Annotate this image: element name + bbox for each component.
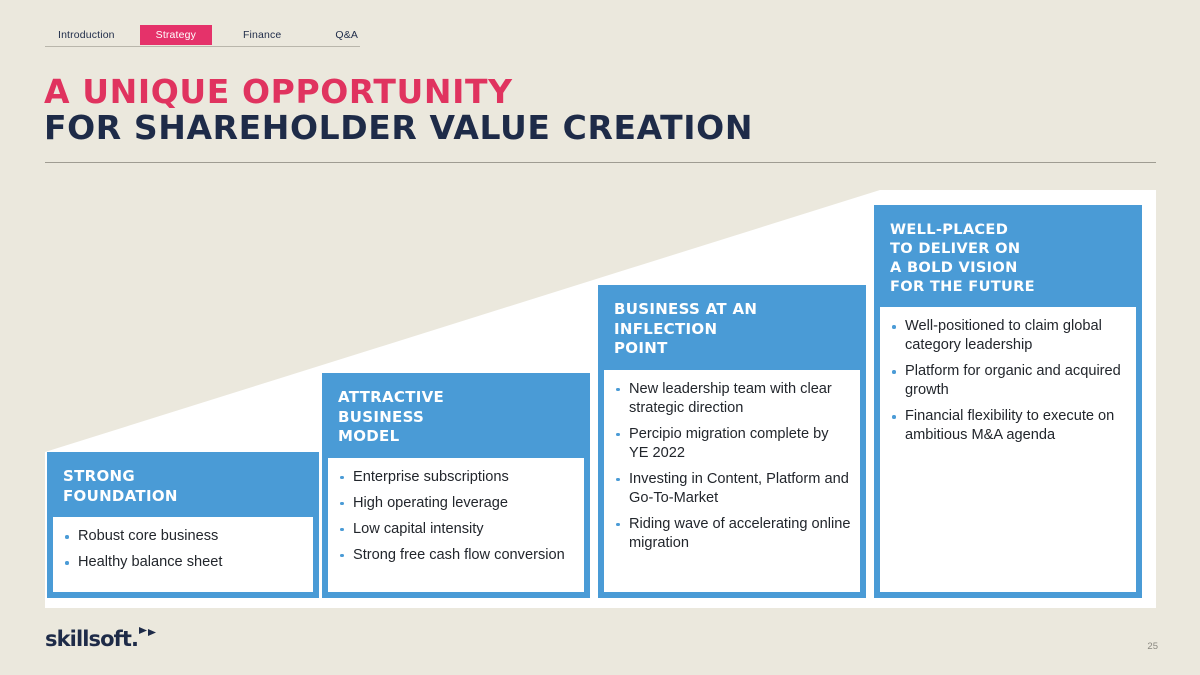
pillar-card-body: Enterprise subscriptions High operating … bbox=[328, 458, 584, 593]
nav-underline bbox=[45, 46, 360, 47]
pillar-card-header: STRONG FOUNDATION bbox=[53, 458, 313, 517]
list-item: Investing in Content, Platform and Go-To… bbox=[613, 470, 851, 508]
pillar-card-body: New leadership team with clear strategic… bbox=[604, 370, 860, 593]
nav-tab-introduction[interactable]: Introduction bbox=[49, 25, 124, 45]
pillar-card-attractive-business-model: ATTRACTIVE BUSINESS MODEL Enterprise sub… bbox=[322, 373, 590, 598]
pillar-bullet-list: New leadership team with clear strategic… bbox=[613, 380, 851, 553]
pillar-bullet-list: Well-positioned to claim global category… bbox=[889, 317, 1127, 445]
list-item: Robust core business bbox=[62, 527, 304, 546]
list-item: Enterprise subscriptions bbox=[337, 468, 575, 487]
nav-tab-qa[interactable]: Q&A bbox=[326, 25, 367, 45]
skillsoft-logo: skillsoft. bbox=[45, 629, 157, 650]
list-item: Platform for organic and acquired growth bbox=[889, 362, 1127, 400]
pillar-card-well-placed-to-deliver: WELL-PLACED TO DELIVER ON A BOLD VISION … bbox=[874, 205, 1142, 598]
pillar-card-body: Robust core business Healthy balance she… bbox=[53, 517, 313, 592]
pillar-card-header: BUSINESS AT AN INFLECTION POINT bbox=[604, 291, 860, 370]
list-item: High operating leverage bbox=[337, 494, 575, 513]
pillar-card-header: ATTRACTIVE BUSINESS MODEL bbox=[328, 379, 584, 458]
page-title: A UNIQUE OPPORTUNITY FOR SHAREHOLDER VAL… bbox=[44, 76, 1164, 144]
list-item: Riding wave of accelerating online migra… bbox=[613, 515, 851, 553]
pillar-bullet-list: Robust core business Healthy balance she… bbox=[62, 527, 304, 572]
pillar-card-business-at-an-inflection-point: BUSINESS AT AN INFLECTION POINT New lead… bbox=[598, 285, 866, 598]
list-item: Healthy balance sheet bbox=[62, 553, 304, 572]
nav-tab-finance[interactable]: Finance bbox=[234, 25, 290, 45]
section-nav: Introduction Strategy Finance Q&A bbox=[45, 25, 360, 47]
logo-wordmark: skillsoft. bbox=[45, 629, 138, 650]
list-item: Financial flexibility to execute on ambi… bbox=[889, 407, 1127, 445]
slide: Introduction Strategy Finance Q&A A UNIQ… bbox=[0, 0, 1200, 675]
pillar-bullet-list: Enterprise subscriptions High operating … bbox=[337, 468, 575, 565]
page-title-line-2: FOR SHAREHOLDER VALUE CREATION bbox=[44, 112, 1164, 144]
list-item: Percipio migration complete by YE 2022 bbox=[613, 425, 851, 463]
list-item: Well-positioned to claim global category… bbox=[889, 317, 1127, 355]
list-item: Strong free cash flow conversion bbox=[337, 546, 575, 565]
play-triangles-icon bbox=[139, 627, 157, 642]
title-divider bbox=[45, 162, 1156, 163]
pillar-card-body: Well-positioned to claim global category… bbox=[880, 307, 1136, 592]
page-title-line-1: A UNIQUE OPPORTUNITY bbox=[44, 76, 1164, 108]
nav-tab-strategy[interactable]: Strategy bbox=[140, 25, 212, 45]
list-item: New leadership team with clear strategic… bbox=[613, 380, 851, 418]
page-number: 25 bbox=[1147, 641, 1158, 652]
pillar-card-header: WELL-PLACED TO DELIVER ON A BOLD VISION … bbox=[880, 211, 1136, 307]
pillar-card-strong-foundation: STRONG FOUNDATION Robust core business H… bbox=[47, 452, 319, 598]
list-item: Low capital intensity bbox=[337, 520, 575, 539]
